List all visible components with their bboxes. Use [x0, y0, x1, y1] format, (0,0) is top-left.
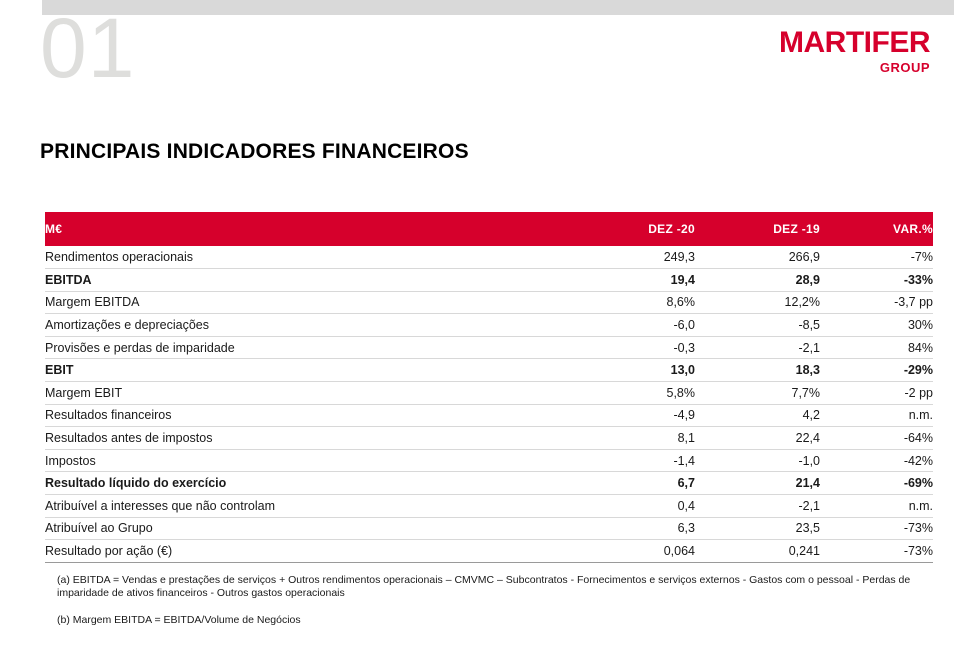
cell-variation: -64%	[820, 427, 933, 450]
table-row: Resultados antes de impostos8,122,4-64%	[45, 427, 933, 450]
cell-variation: -7%	[820, 246, 933, 269]
cell-variation: 84%	[820, 336, 933, 359]
column-header-variation: VAR.%	[820, 212, 933, 246]
cell-dez-19: -8,5	[695, 314, 820, 337]
table-header-row: M€ DEZ -20 DEZ -19 VAR.%	[45, 212, 933, 246]
row-label: EBITDA	[45, 269, 565, 292]
row-label: Provisões e perdas de imparidade	[45, 336, 565, 359]
cell-dez-20: 5,8%	[565, 382, 695, 405]
table-row: Provisões e perdas de imparidade-0,3-2,1…	[45, 336, 933, 359]
header-gray-band	[42, 0, 954, 15]
table-row: EBIT13,018,3-29%	[45, 359, 933, 382]
cell-variation: -3,7 pp	[820, 291, 933, 314]
cell-dez-20: 6,3	[565, 517, 695, 540]
cell-variation: 30%	[820, 314, 933, 337]
page-title: PRINCIPAIS INDICADORES FINANCEIROS	[40, 140, 469, 164]
cell-variation: -73%	[820, 517, 933, 540]
table-row: Resultado por ação (€)0,0640,241-73%	[45, 540, 933, 563]
cell-dez-19: 21,4	[695, 472, 820, 495]
footnote-margem-ebitda-definition: (b) Margem EBITDA = EBITDA/Volume de Neg…	[57, 614, 933, 627]
cell-dez-19: 28,9	[695, 269, 820, 292]
cell-dez-20: 0,064	[565, 540, 695, 563]
row-label: EBIT	[45, 359, 565, 382]
cell-dez-20: 19,4	[565, 269, 695, 292]
slide-header: 01 MARTIFER GROUP	[0, 0, 954, 110]
section-number-watermark: 01	[40, 6, 135, 90]
row-label: Resultado líquido do exercício	[45, 472, 565, 495]
cell-dez-19: -1,0	[695, 449, 820, 472]
column-header-dez-19: DEZ -19	[695, 212, 820, 246]
cell-dez-20: 8,6%	[565, 291, 695, 314]
table-row: EBITDA19,428,9-33%	[45, 269, 933, 292]
cell-dez-20: -0,3	[565, 336, 695, 359]
cell-dez-19: -2,1	[695, 495, 820, 518]
cell-dez-20: -6,0	[565, 314, 695, 337]
column-header-unit: M€	[45, 212, 565, 246]
cell-variation: -33%	[820, 269, 933, 292]
cell-dez-19: 12,2%	[695, 291, 820, 314]
cell-variation: -69%	[820, 472, 933, 495]
cell-dez-19: 22,4	[695, 427, 820, 450]
row-label: Margem EBIT	[45, 382, 565, 405]
financial-indicators-table: M€ DEZ -20 DEZ -19 VAR.% Rendimentos ope…	[45, 212, 933, 563]
cell-variation: -73%	[820, 540, 933, 563]
table-row: Atribuível ao Grupo6,323,5-73%	[45, 517, 933, 540]
brand-logo-subtitle: GROUP	[779, 61, 930, 74]
cell-dez-20: 0,4	[565, 495, 695, 518]
table-row: Margem EBIT5,8%7,7%-2 pp	[45, 382, 933, 405]
cell-dez-19: 4,2	[695, 404, 820, 427]
table-row: Resultado líquido do exercício6,721,4-69…	[45, 472, 933, 495]
footnotes: (a) EBITDA = Vendas e prestações de serv…	[57, 574, 933, 627]
cell-dez-19: 23,5	[695, 517, 820, 540]
cell-dez-20: 249,3	[565, 246, 695, 269]
cell-variation: n.m.	[820, 495, 933, 518]
brand-logo-name: MARTIFER	[779, 28, 930, 58]
table-row: Amortizações e depreciações-6,0-8,530%	[45, 314, 933, 337]
table-row: Margem EBITDA8,6%12,2%-3,7 pp	[45, 291, 933, 314]
row-label: Margem EBITDA	[45, 291, 565, 314]
indicators-table-container: M€ DEZ -20 DEZ -19 VAR.% Rendimentos ope…	[45, 212, 933, 563]
table-row: Atribuível a interesses que não controla…	[45, 495, 933, 518]
row-label: Resultados antes de impostos	[45, 427, 565, 450]
footnote-ebitda-definition: (a) EBITDA = Vendas e prestações de serv…	[57, 574, 933, 600]
table-row: Impostos-1,4-1,0-42%	[45, 449, 933, 472]
table-row: Rendimentos operacionais249,3266,9-7%	[45, 246, 933, 269]
cell-variation: -29%	[820, 359, 933, 382]
row-label: Resultado por ação (€)	[45, 540, 565, 563]
cell-dez-20: 6,7	[565, 472, 695, 495]
cell-dez-19: 7,7%	[695, 382, 820, 405]
cell-dez-19: 0,241	[695, 540, 820, 563]
cell-dez-20: 8,1	[565, 427, 695, 450]
table-header: M€ DEZ -20 DEZ -19 VAR.%	[45, 212, 933, 246]
row-label: Rendimentos operacionais	[45, 246, 565, 269]
table-body: Rendimentos operacionais249,3266,9-7%EBI…	[45, 246, 933, 562]
row-label: Amortizações e depreciações	[45, 314, 565, 337]
table-row: Resultados financeiros-4,94,2n.m.	[45, 404, 933, 427]
cell-variation: -42%	[820, 449, 933, 472]
row-label: Atribuível a interesses que não controla…	[45, 495, 565, 518]
cell-dez-20: -4,9	[565, 404, 695, 427]
cell-dez-19: -2,1	[695, 336, 820, 359]
cell-dez-19: 266,9	[695, 246, 820, 269]
row-label: Atribuível ao Grupo	[45, 517, 565, 540]
cell-dez-20: -1,4	[565, 449, 695, 472]
cell-variation: -2 pp	[820, 382, 933, 405]
cell-dez-19: 18,3	[695, 359, 820, 382]
column-header-dez-20: DEZ -20	[565, 212, 695, 246]
row-label: Resultados financeiros	[45, 404, 565, 427]
brand-logo: MARTIFER GROUP	[779, 28, 930, 74]
cell-dez-20: 13,0	[565, 359, 695, 382]
row-label: Impostos	[45, 449, 565, 472]
cell-variation: n.m.	[820, 404, 933, 427]
